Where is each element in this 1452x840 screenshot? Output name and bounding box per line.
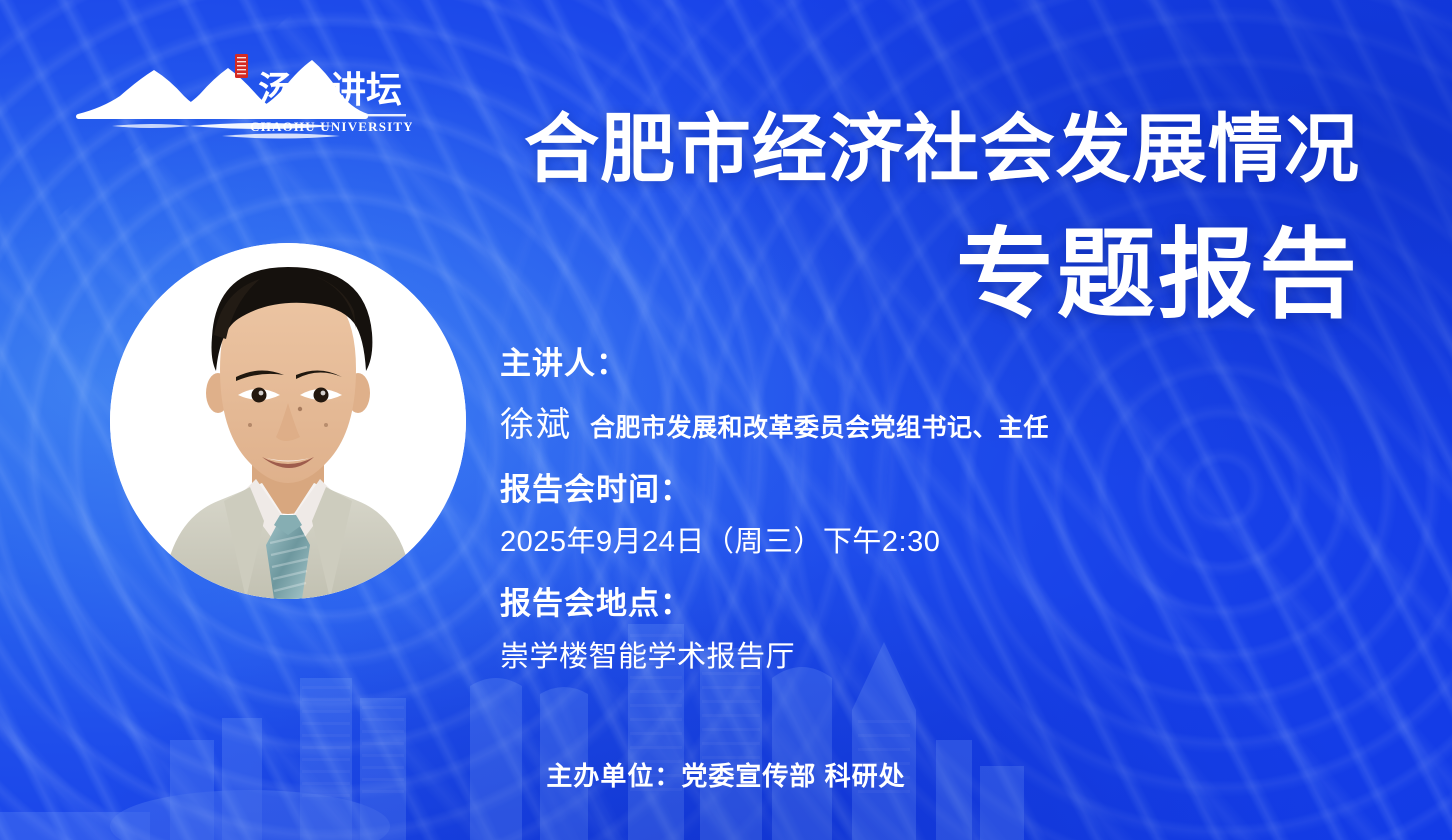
headline-line-1: 合肥市经济社会发展情况 (360, 112, 1360, 187)
logo-brand-text: 汤山讲坛 (258, 70, 402, 111)
time-label: 报告会时间： (500, 472, 1380, 509)
speaker-row: 徐斌 合肥市发展和改革委员会党组书记、主任 (500, 397, 1380, 446)
place-label: 报告会地点： (500, 586, 1380, 623)
time-value: 2025年9月24日（周三）下午2:30 (500, 518, 1380, 560)
place-value: 崇学楼智能学术报告厅 (500, 633, 1380, 675)
speaker-name: 徐斌 (500, 397, 572, 446)
poster-canvas: 汤山讲坛 CHAOHU UNIVERSITY (0, 0, 1452, 840)
organizers-footer: 主办单位：党委宣传部 科研处 (0, 756, 1452, 793)
speaker-title: 合肥市发展和改革委员会党组书记、主任 (590, 408, 1049, 444)
page-title: 合肥市经济社会发展情况 专题报告 (360, 112, 1360, 323)
spacer (500, 446, 1380, 472)
headline-line-2: 专题报告 (360, 225, 1360, 323)
speaker-label: 主讲人： (500, 346, 1380, 383)
spacer-2 (500, 560, 1380, 586)
event-details: 主讲人： 徐斌 合肥市发展和改革委员会党组书记、主任 报告会时间： 2025年9… (500, 346, 1380, 675)
